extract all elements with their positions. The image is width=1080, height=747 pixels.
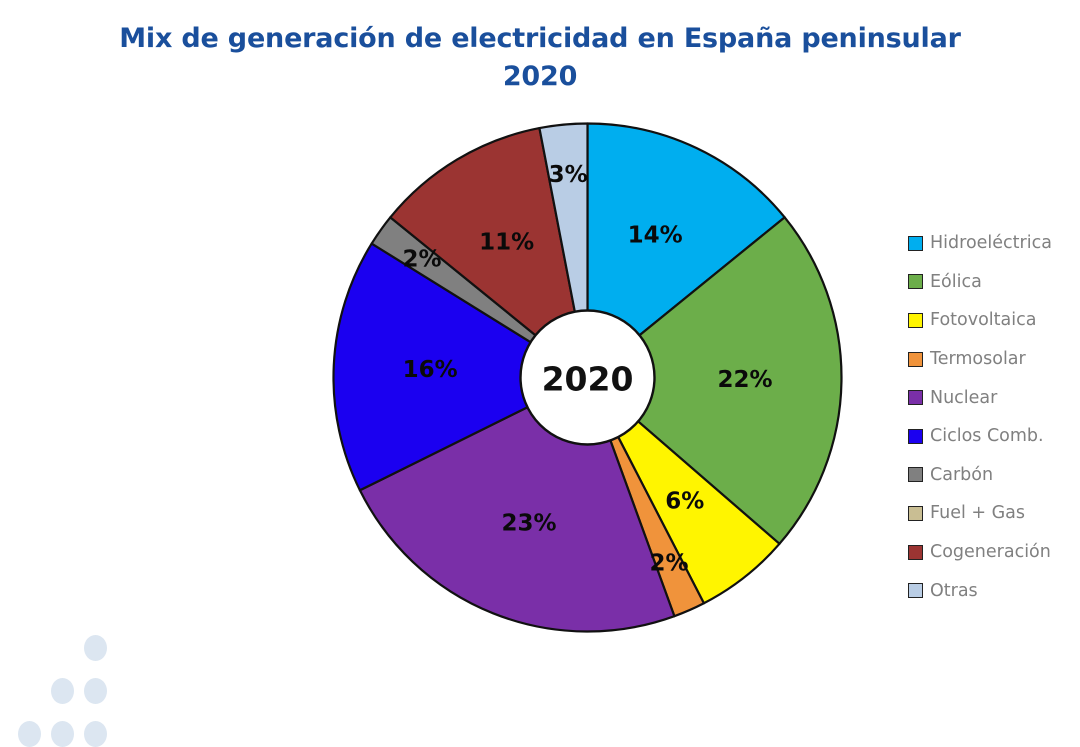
legend-label: Eólica — [930, 272, 982, 292]
legend-swatch-icon — [908, 236, 923, 251]
center-year-label: 2020 — [542, 360, 634, 399]
legend-item[interactable]: Termosolar — [908, 340, 1080, 379]
legend-swatch-icon — [908, 429, 923, 444]
legend-label: Carbón — [930, 465, 993, 485]
chart-legend: HidroeléctricaEólicaFotovoltaicaTermosol… — [908, 224, 1080, 610]
legend-item[interactable]: Hidroeléctrica — [908, 224, 1080, 263]
legend-label: Ciclos Comb. — [930, 426, 1044, 446]
legend-item[interactable]: Fotovoltaica — [908, 301, 1080, 340]
legend-swatch-icon — [908, 313, 923, 328]
pie-slice-value-label: 2% — [649, 551, 688, 577]
logo-dot — [51, 678, 74, 704]
legend-label: Fuel + Gas — [930, 503, 1025, 523]
legend-swatch-icon — [908, 545, 923, 560]
page-title: Mix de generación de electricidad en Esp… — [0, 20, 1080, 96]
logo-dot — [51, 721, 74, 747]
legend-swatch-icon — [908, 352, 923, 367]
legend-item[interactable]: Cogeneración — [908, 533, 1080, 572]
legend-swatch-icon — [908, 583, 923, 598]
legend-item[interactable]: Eólica — [908, 263, 1080, 302]
legend-item[interactable]: Carbón — [908, 456, 1080, 495]
legend-item[interactable]: Ciclos Comb. — [908, 417, 1080, 456]
title-line-2: 2020 — [0, 58, 1080, 96]
logo-dot — [84, 635, 107, 661]
legend-swatch-icon — [908, 506, 923, 521]
pie-slice-value-label: 22% — [717, 367, 772, 393]
legend-item[interactable]: Nuclear — [908, 378, 1080, 417]
logo-dot — [18, 721, 41, 747]
legend-label: Otras — [930, 581, 978, 601]
legend-swatch-icon — [908, 390, 923, 405]
legend-label: Fotovoltaica — [930, 310, 1036, 330]
pie-slice-value-label: 23% — [501, 511, 556, 537]
logo-dot — [84, 678, 107, 704]
legend-swatch-icon — [908, 274, 923, 289]
pie-slice-value-label: 6% — [665, 488, 704, 514]
legend-label: Hidroeléctrica — [930, 233, 1052, 253]
pie-slice-value-label: 11% — [479, 229, 534, 255]
pie-slice-value-label: 2% — [402, 247, 441, 273]
pie-slice-value-label: 3% — [549, 162, 588, 188]
legend-swatch-icon — [908, 467, 923, 482]
legend-item[interactable]: Otras — [908, 571, 1080, 610]
legend-item[interactable]: Fuel + Gas — [908, 494, 1080, 533]
pie-chart: 2020 14%22%6%2%23%16%2%11%3% — [330, 120, 845, 635]
pie-slice-value-label: 16% — [403, 357, 458, 383]
dot-triangle-logo — [0, 590, 180, 716]
legend-label: Termosolar — [930, 349, 1026, 369]
logo-dot — [84, 721, 107, 747]
legend-label: Nuclear — [930, 388, 997, 408]
pie-chart-svg: 2020 14%22%6%2%23%16%2%11%3% — [330, 120, 845, 635]
title-line-1: Mix de generación de electricidad en Esp… — [0, 20, 1080, 58]
legend-label: Cogeneración — [930, 542, 1051, 562]
pie-slice-value-label: 14% — [628, 222, 683, 248]
